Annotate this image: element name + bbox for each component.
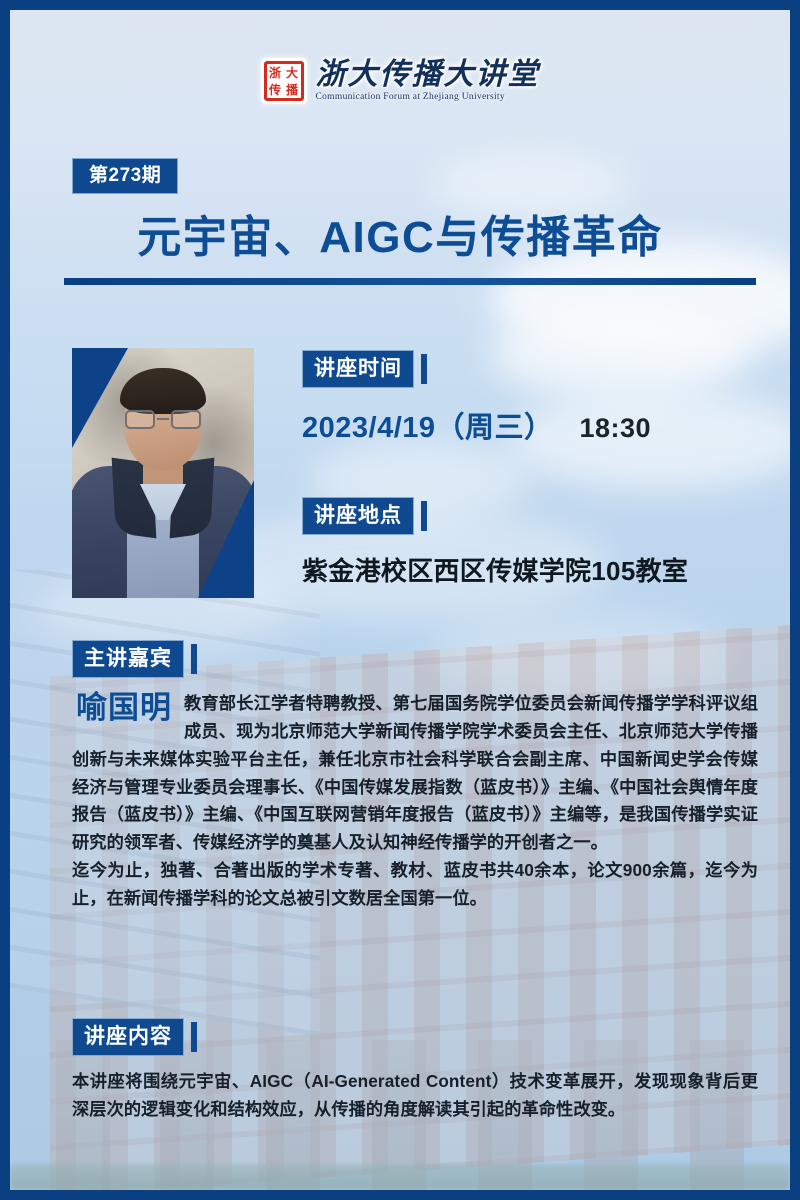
lecture-place-section: 讲座地点 紫金港校区西区传媒学院105教室: [302, 497, 688, 588]
guest-speaker-bio: 教育部长江学者特聘教授、第七届国务院学位委员会新闻传播学学科评议组成员、现为北京…: [72, 690, 758, 857]
lecture-place-label: 讲座地点: [302, 497, 688, 535]
page-title: 元宇宙、AIGC与传播革命: [10, 214, 790, 262]
label-accent-bar: [191, 1022, 197, 1052]
lecture-content-section: 讲座内容 本讲座将围绕元宇宙、AIGC（AI-Generated Content…: [72, 1018, 758, 1124]
label-accent-bar: [191, 644, 197, 674]
lecture-content-text: 本讲座将围绕元宇宙、AIGC（AI-Generated Content）技术变革…: [72, 1068, 758, 1124]
title-divider: [64, 278, 756, 285]
poster-stage: 浙 大 传 播 浙大传播大讲堂 Communication Forum at Z…: [10, 10, 790, 1190]
poster-frame: 浙 大 传 播 浙大传播大讲堂 Communication Forum at Z…: [0, 0, 800, 1200]
lecture-time-label: 讲座时间: [302, 350, 651, 388]
logo-chinese-name: 浙大传播大讲堂: [316, 60, 540, 91]
seal-stamp-icon: 浙 大 传 播: [261, 58, 307, 104]
speaker-portrait-photo: [72, 348, 254, 598]
label-accent-bar: [421, 354, 427, 384]
seal-character: 浙: [267, 64, 284, 81]
brand-logo: 浙 大 传 播 浙大传播大讲堂 Communication Forum at Z…: [10, 58, 790, 104]
guest-speaker-name: 喻国明: [76, 692, 172, 723]
lecture-content-label: 讲座内容: [72, 1018, 758, 1056]
lecture-clock: 18:30: [580, 413, 652, 444]
lecture-content-label-text: 讲座内容: [72, 1018, 184, 1056]
lecture-time-section: 讲座时间 2023/4/19（周三） 18:30: [302, 350, 651, 446]
lecture-place-label-text: 讲座地点: [302, 497, 414, 535]
lecture-place-value: 紫金港校区西区传媒学院105教室: [302, 551, 688, 588]
logo-english-name: Communication Forum at Zhejiang Universi…: [316, 92, 505, 102]
guest-speaker-bio-line2: 迄今为止，独著、合著出版的学术专著、教材、蓝皮书共40余本，论文900余篇，迄今…: [72, 857, 758, 913]
guest-speaker-section: 主讲嘉宾 喻国明 教育部长江学者特聘教授、第七届国务院学位委员会新闻传播学学科评…: [72, 640, 758, 913]
seal-character: 大: [284, 64, 301, 81]
issue-number-badge: 第273期: [72, 158, 178, 194]
lecture-date: 2023/4/19（周三）: [302, 404, 554, 446]
guest-speaker-label: 主讲嘉宾: [72, 640, 758, 678]
lecture-time-label-text: 讲座时间: [302, 350, 414, 388]
guest-speaker-label-text: 主讲嘉宾: [72, 640, 184, 678]
seal-character: 传: [267, 81, 284, 98]
seal-character: 播: [284, 81, 301, 98]
lecture-time-value: 2023/4/19（周三） 18:30: [302, 404, 651, 446]
label-accent-bar: [421, 501, 427, 531]
